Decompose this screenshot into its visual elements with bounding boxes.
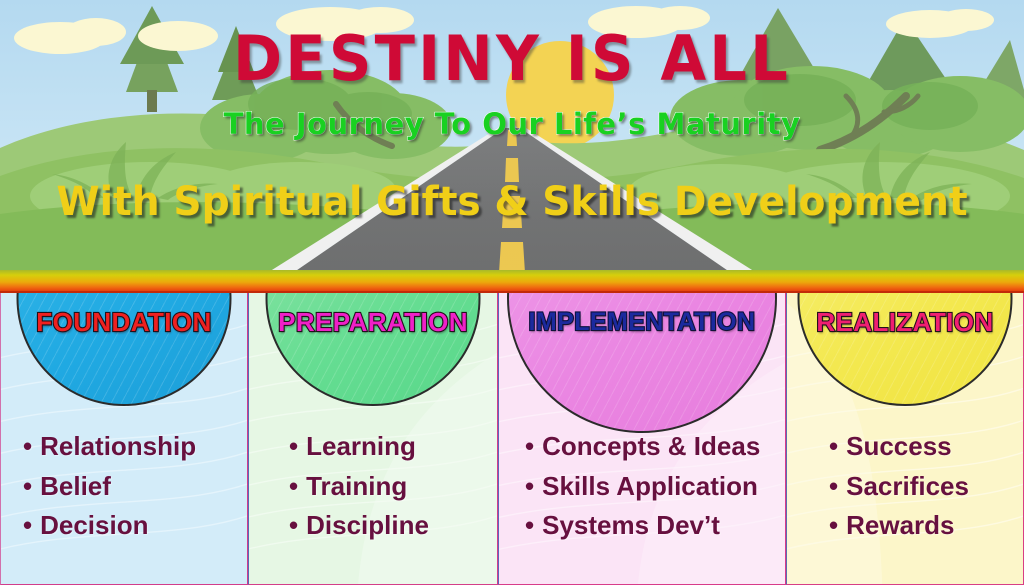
bullet-dot-icon: • <box>289 433 298 459</box>
list-item: •Success <box>829 427 1023 467</box>
landscape-illustration <box>0 0 1024 288</box>
list-item: •Skills Application <box>525 467 785 507</box>
list-item: •Belief <box>23 467 247 507</box>
list-item: •Learning <box>289 427 497 467</box>
bullet-dot-icon: • <box>829 433 838 459</box>
bullet-dot-icon: • <box>289 473 298 499</box>
bullet-dot-icon: • <box>23 473 32 499</box>
bullet-dot-icon: • <box>525 473 534 499</box>
panel-heading-foundation: FOUNDATION <box>1 309 247 335</box>
list-item-label: Learning <box>306 427 416 467</box>
list-item-label: Success <box>846 427 952 467</box>
bullet-dot-icon: • <box>23 512 32 538</box>
panel-heading-realization: REALIZATION <box>787 309 1023 335</box>
bullet-list-realization: •Success •Sacrifices •Rewards <box>787 427 1023 546</box>
panel-heading-implementation: IMPLEMENTATION <box>499 310 785 335</box>
bullet-dot-icon: • <box>525 512 534 538</box>
list-item-label: Skills Application <box>542 467 758 507</box>
list-item: •Relationship <box>23 427 247 467</box>
gradient-divider-band <box>0 270 1024 293</box>
list-item: •Rewards <box>829 506 1023 546</box>
bullet-dot-icon: • <box>829 512 838 538</box>
stage-panels: FOUNDATION •Relationship •Belief •Decisi… <box>0 293 1024 585</box>
bullet-list-foundation: •Relationship •Belief •Decision <box>1 427 247 546</box>
list-item: •Discipline <box>289 506 497 546</box>
bullet-dot-icon: • <box>829 473 838 499</box>
panel-implementation[interactable]: IMPLEMENTATION •Concepts & Ideas •Skills… <box>498 293 786 585</box>
list-item-label: Rewards <box>846 506 954 546</box>
list-item-label: Discipline <box>306 506 429 546</box>
list-item-label: Sacrifices <box>846 467 969 507</box>
bullet-list-preparation: •Learning •Training •Discipline <box>249 427 497 546</box>
bullet-dot-icon: • <box>289 512 298 538</box>
bullet-list-implementation: •Concepts & Ideas •Skills Application •S… <box>499 427 785 546</box>
list-item-label: Concepts & Ideas <box>542 427 760 467</box>
panel-heading-preparation: PREPARATION <box>249 309 497 335</box>
destiny-is-all-poster: DESTINY IS ALL The Journey To Our Life’s… <box>0 0 1024 585</box>
list-item-label: Systems Dev’t <box>542 506 720 546</box>
bullet-dot-icon: • <box>525 433 534 459</box>
list-item: •Training <box>289 467 497 507</box>
list-item-label: Decision <box>40 506 148 546</box>
hero-landscape-scene <box>0 0 1024 288</box>
list-item-label: Belief <box>40 467 111 507</box>
list-item: •Systems Dev’t <box>525 506 785 546</box>
bullet-dot-icon: • <box>23 433 32 459</box>
list-item: •Sacrifices <box>829 467 1023 507</box>
list-item-label: Training <box>306 467 407 507</box>
panel-realization[interactable]: REALIZATION •Success •Sacrifices •Reward… <box>786 293 1024 585</box>
panel-preparation[interactable]: PREPARATION •Learning •Training •Discipl… <box>248 293 498 585</box>
panel-foundation[interactable]: FOUNDATION •Relationship •Belief •Decisi… <box>0 293 248 585</box>
list-item: •Decision <box>23 506 247 546</box>
list-item: •Concepts & Ideas <box>525 427 785 467</box>
list-item-label: Relationship <box>40 427 196 467</box>
